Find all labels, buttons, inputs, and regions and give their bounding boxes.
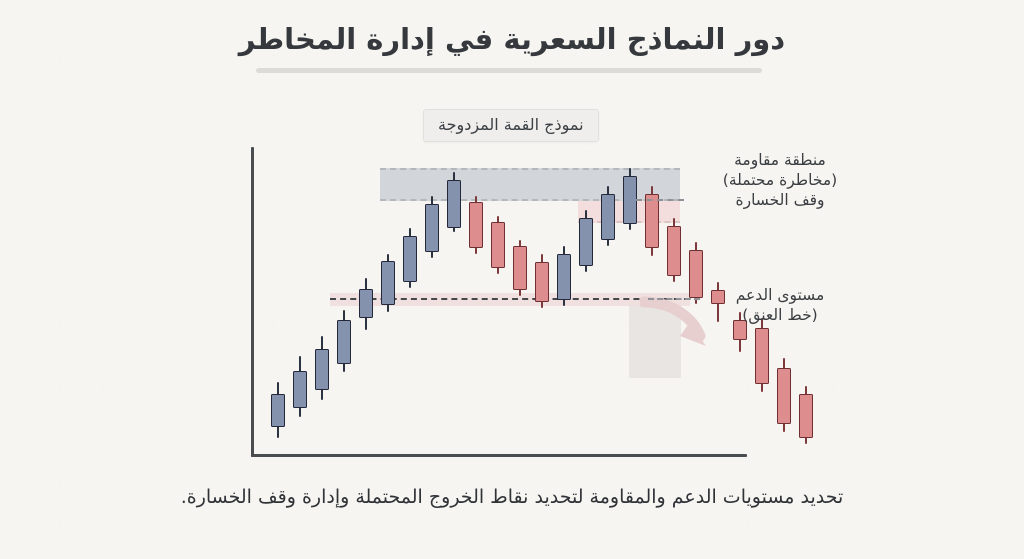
candle-body (425, 204, 439, 252)
candle-body (403, 236, 417, 282)
candle-16 (601, 186, 615, 246)
resistance-annotation-line3: وقف الخسارة (676, 190, 884, 210)
candle-body (601, 194, 615, 240)
candle-15 (579, 210, 593, 272)
support-annotation: مستوى الدعم (خط العنق) (690, 285, 870, 325)
candle-17 (623, 168, 637, 230)
page-title: دور النماذج السعرية في إدارة المخاطر (0, 22, 1024, 56)
candle-body (315, 349, 329, 390)
resistance-annotation: منطقة مقاومة (مخاطرة محتملة) وقف الخسارة (676, 150, 884, 210)
x-axis (251, 454, 747, 457)
candle-body (799, 394, 813, 438)
y-axis (251, 147, 254, 457)
candle-body (381, 261, 395, 305)
candle-body (777, 368, 791, 424)
candle-2 (293, 356, 307, 417)
candle-body (557, 254, 571, 300)
candle-13 (535, 254, 549, 308)
candle-body (623, 176, 637, 224)
candle-7 (403, 228, 417, 288)
candle-6 (381, 254, 395, 312)
title-underline (256, 68, 762, 73)
candle-10 (469, 196, 483, 254)
candle-body (535, 262, 549, 302)
candle-body (447, 180, 461, 228)
candle-23 (755, 318, 769, 392)
candle-5 (359, 278, 373, 330)
support-annotation-line1: مستوى الدعم (690, 285, 870, 305)
candle-9 (447, 172, 461, 232)
candle-12 (513, 240, 527, 296)
candle-body (271, 394, 285, 427)
candle-body (645, 194, 659, 248)
candle-body (513, 246, 527, 290)
candle-body (755, 328, 769, 384)
candle-body (293, 371, 307, 408)
support-annotation-line2: (خط العنق) (690, 305, 870, 325)
paper-texture (0, 0, 1024, 559)
resistance-annotation-line2: (مخاطرة محتملة) (676, 170, 884, 190)
candle-11 (491, 216, 505, 274)
figure-caption: تحديد مستويات الدعم والمقاومة لتحديد نقا… (0, 486, 1024, 508)
resistance-annotation-line1: منطقة مقاومة (676, 150, 884, 170)
candle-4 (337, 310, 351, 372)
candle-18 (645, 186, 659, 256)
candle-24 (777, 358, 791, 432)
candle-body (667, 226, 681, 276)
candle-body (337, 320, 351, 364)
candle-25 (799, 386, 813, 444)
infographic-canvas: دور النماذج السعرية في إدارة المخاطر نمو… (0, 0, 1024, 559)
candle-19 (667, 218, 681, 282)
candle-14 (557, 246, 571, 306)
candle-3 (315, 336, 329, 400)
candle-8 (425, 196, 439, 258)
candle-body (491, 222, 505, 268)
candle-1 (271, 382, 285, 438)
candle-body (579, 218, 593, 266)
candle-body (469, 202, 483, 248)
candle-body (359, 289, 373, 318)
pattern-badge: نموذج القمة المزدوجة (423, 109, 599, 142)
